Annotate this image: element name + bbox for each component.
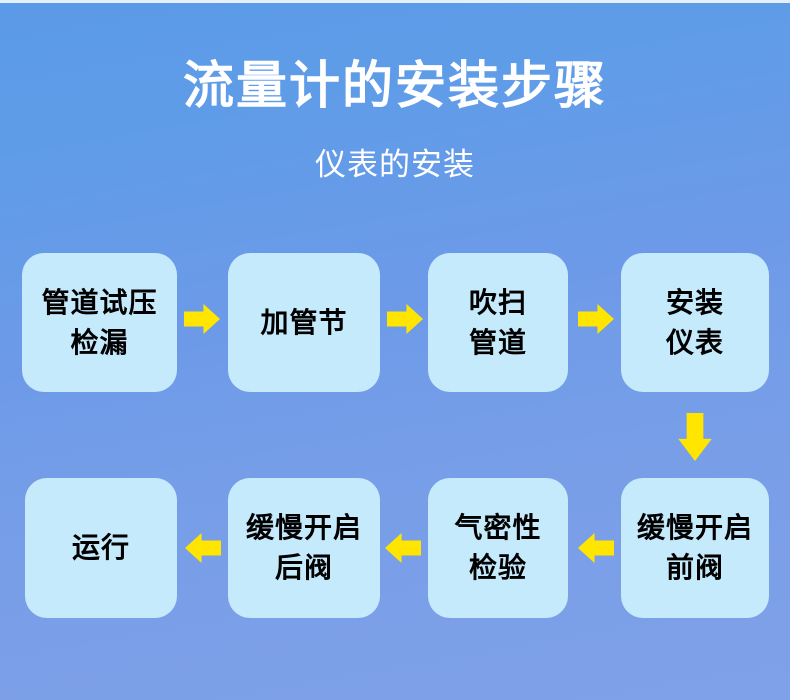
arrow-left-icon-7-8	[185, 531, 221, 565]
flow-node-4[interactable]: 安装 仪表	[621, 253, 769, 392]
page-title: 流量计的安装步骤	[0, 58, 790, 114]
flow-node-1[interactable]: 管道试压 检漏	[22, 253, 177, 392]
arrow-down-icon-4-5	[676, 413, 714, 461]
flow-node-3-line-1: 吹扫	[469, 283, 527, 323]
flow-node-6[interactable]: 气密性 检验	[428, 478, 568, 618]
flow-node-1-line-2: 检漏	[41, 323, 157, 363]
flow-node-3[interactable]: 吹扫 管道	[428, 253, 568, 392]
flow-node-4-line-1: 安装	[666, 283, 724, 323]
arrow-right-icon-3-4	[578, 302, 614, 336]
arrow-left-icon-6-7	[385, 531, 421, 565]
flow-node-3-line-2: 管道	[469, 323, 527, 363]
flow-node-2[interactable]: 加管节	[228, 253, 380, 392]
flow-node-5[interactable]: 缓慢开启 前阀	[621, 478, 769, 618]
arrow-right-icon-1-2	[184, 302, 220, 336]
flow-node-2-line-1: 加管节	[260, 303, 347, 343]
arrow-left-icon-5-6	[578, 531, 614, 565]
flow-node-4-line-2: 仪表	[666, 323, 724, 363]
flow-node-6-line-1: 气密性	[454, 508, 541, 548]
page-subtitle: 仪表的安装	[0, 148, 790, 182]
top-edge-strip	[0, 0, 790, 3]
flowchart-poster: 流量计的安装步骤 仪表的安装 管道试压 检漏 加管节 吹扫 管道 安装 仪表 缓…	[0, 0, 790, 700]
flow-node-5-line-2: 前阀	[637, 548, 753, 588]
arrow-right-icon-2-3	[387, 302, 423, 336]
flow-node-5-line-1: 缓慢开启	[637, 508, 753, 548]
flow-node-7[interactable]: 缓慢开启 后阀	[228, 478, 380, 618]
flow-node-7-line-1: 缓慢开启	[246, 508, 362, 548]
flow-node-8[interactable]: 运行	[25, 478, 177, 618]
flow-node-8-line-1: 运行	[72, 528, 130, 568]
flow-node-7-line-2: 后阀	[246, 548, 362, 588]
flow-node-1-line-1: 管道试压	[41, 283, 157, 323]
flow-node-6-line-2: 检验	[454, 548, 541, 588]
